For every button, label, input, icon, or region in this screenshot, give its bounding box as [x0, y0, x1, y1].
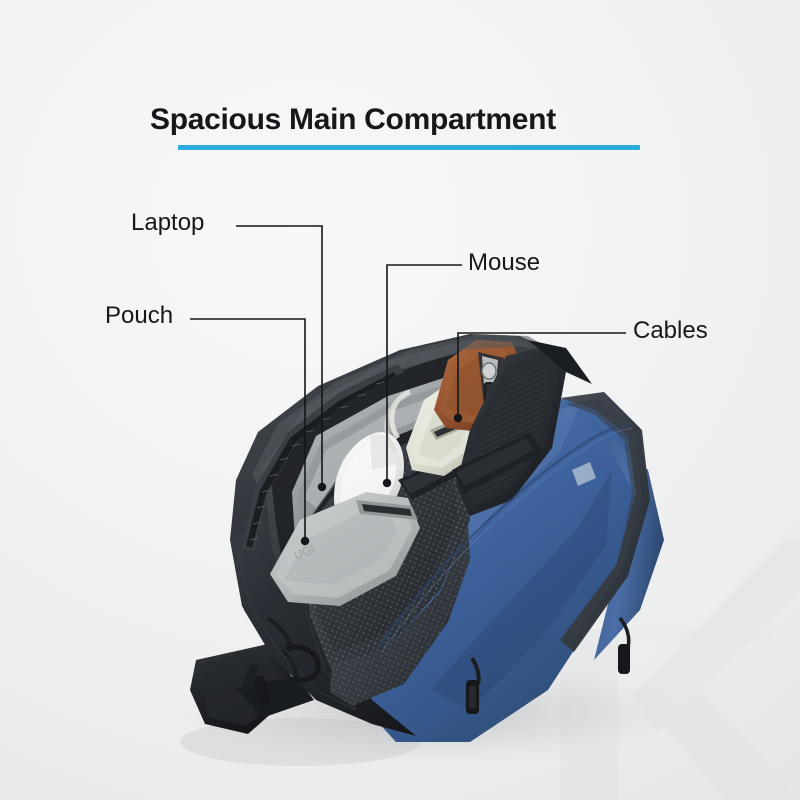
callout-label-pouch: Pouch	[105, 304, 173, 328]
callout-label-mouse: Mouse	[468, 251, 540, 275]
callout-label-laptop: Laptop	[131, 211, 204, 235]
product-feature-image: UGI	[0, 0, 800, 800]
callout-label-cables: Cables	[633, 319, 708, 343]
title-underline	[178, 145, 640, 150]
page-title: Spacious Main Compartment	[150, 103, 556, 137]
